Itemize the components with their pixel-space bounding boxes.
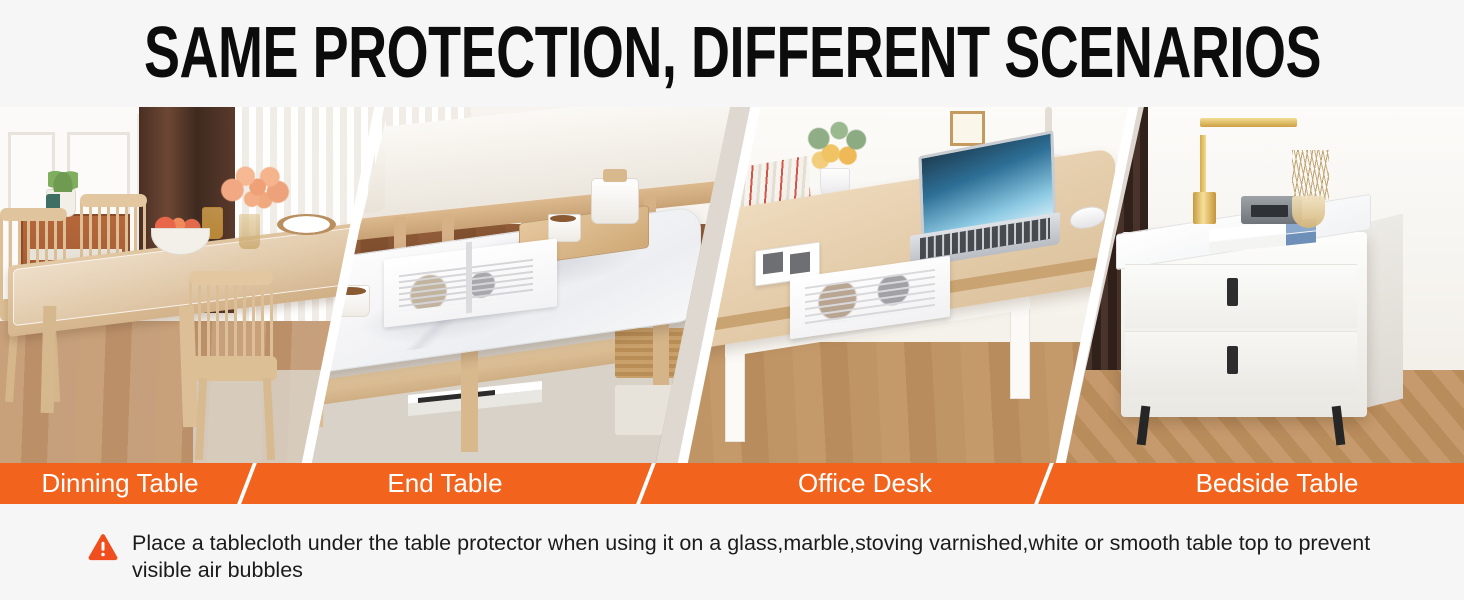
flower-bouquet bbox=[795, 118, 880, 175]
woven-basket bbox=[615, 328, 687, 378]
reed-diffuser-bottle bbox=[1292, 196, 1324, 228]
gold-lamp-arm bbox=[1200, 118, 1297, 127]
scenario-photo-strip bbox=[0, 107, 1464, 463]
table-leg bbox=[41, 306, 57, 413]
label-divider bbox=[636, 463, 656, 504]
table-leg bbox=[461, 346, 477, 453]
scenario-label-dinning-table: Dinning Table bbox=[0, 463, 240, 504]
framed-art bbox=[950, 111, 985, 147]
nightstand-drawer bbox=[1125, 331, 1357, 395]
infographic-root: SAME PROTECTION, DIFFERENT SCENARIOS bbox=[0, 0, 1464, 600]
warning-note: Place a tablecloth under the table prote… bbox=[0, 504, 1464, 600]
dining-chair-crest bbox=[80, 194, 147, 206]
teapot-lid bbox=[603, 169, 627, 181]
scenario-label-end-table: End Table bbox=[260, 463, 630, 504]
magazine-fold bbox=[466, 242, 472, 314]
page-title: SAME PROTECTION, DIFFERENT SCENARIOS bbox=[143, 18, 1320, 90]
warning-note-text: Place a tablecloth under the table prote… bbox=[132, 530, 1394, 583]
dining-chair-crest bbox=[0, 208, 67, 220]
scenario-label-bar: Dinning Table End Table Office Desk Beds… bbox=[0, 463, 1464, 504]
potted-plant bbox=[48, 164, 77, 192]
reed-diffuser-sticks bbox=[1292, 150, 1329, 200]
scenario-label-bedside-table: Bedside Table bbox=[1090, 463, 1464, 504]
gold-lamp-cylinder bbox=[1193, 192, 1216, 224]
sofa-leg bbox=[394, 217, 406, 249]
clock-display bbox=[1251, 205, 1288, 217]
title-bar: SAME PROTECTION, DIFFERENT SCENARIOS bbox=[0, 0, 1464, 107]
label-divider bbox=[237, 463, 257, 504]
photo-image bbox=[763, 252, 783, 274]
photo-image bbox=[790, 252, 810, 274]
flower-vase bbox=[239, 214, 260, 250]
drawer-handle bbox=[1227, 346, 1238, 374]
dining-chair-crest bbox=[189, 271, 273, 285]
drawer-handle bbox=[1227, 278, 1238, 306]
warning-triangle-icon bbox=[88, 533, 118, 561]
scenario-label-office-desk: Office Desk bbox=[680, 463, 1050, 504]
dinner-plate bbox=[277, 214, 336, 235]
nightstand-drawer bbox=[1125, 264, 1357, 328]
teapot bbox=[591, 178, 639, 224]
flower-bouquet bbox=[218, 157, 289, 218]
